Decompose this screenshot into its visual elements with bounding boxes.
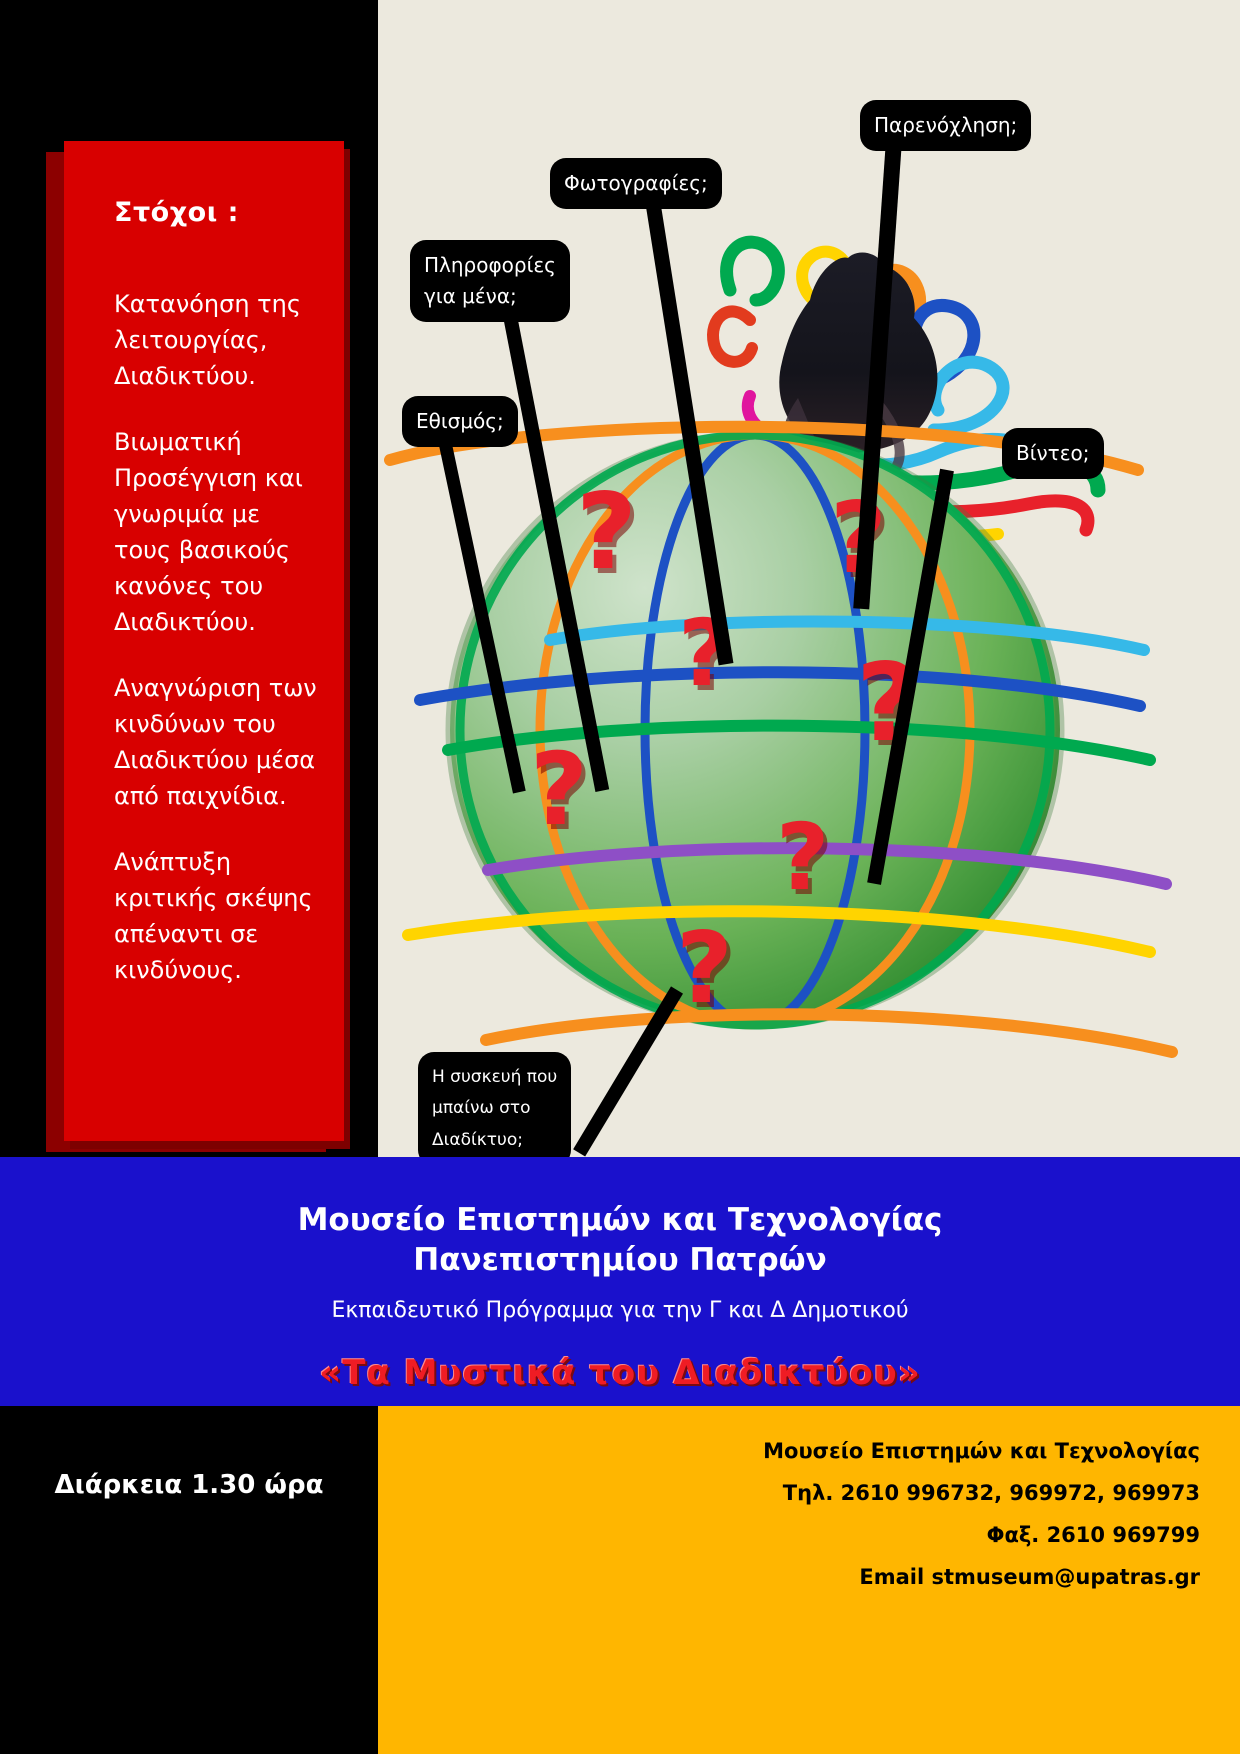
duration-text: Διάρκεια 1.30 ώρα xyxy=(0,1470,378,1500)
duration-panel xyxy=(0,1406,378,1754)
globe-bands xyxy=(378,0,1240,1157)
bubble-video[interactable]: Βίντεο; xyxy=(1002,428,1104,479)
bubble-personal-info[interactable]: Πληροφορίες για μένα; xyxy=(410,240,570,322)
question-mark: ? xyxy=(530,740,588,840)
contact-email[interactable]: Email stmuseum@upatras.gr xyxy=(378,1556,1200,1598)
contact-panel: Μουσείο Επιστημών και Τεχνολογίας Τηλ. 2… xyxy=(378,1406,1240,1754)
organisation-line-1: Μουσείο Επιστημών και Τεχνολογίας xyxy=(0,1201,1240,1241)
main-title: «Τα Μυστικά του Διαδικτύου» xyxy=(0,1353,1240,1393)
goal-item: Κατανόηση της λειτουργίας, Διαδικτύου. xyxy=(114,286,318,394)
bubble-addiction[interactable]: Εθισμός; xyxy=(402,396,518,447)
goal-item: Αναγνώριση των κινδύνων του Διαδικτύου μ… xyxy=(114,670,318,814)
bubble-photos[interactable]: Φωτογραφίες; xyxy=(550,158,722,209)
question-mark: ? xyxy=(776,812,829,904)
contact-fax: Φαξ. 2610 969799 xyxy=(378,1514,1200,1556)
program-line: Εκπαιδευτικό Πρόγραμμα για την Γ και Δ Δ… xyxy=(0,1298,1240,1323)
illustration-panel: ? ? ? ? ? ? ? Παρενόχληση; Φωτογραφίες; … xyxy=(378,0,1240,1157)
footer-blue-band: Μουσείο Επιστημών και Τεχνολογίας Πανεπι… xyxy=(0,1157,1240,1406)
goals-card: Στόχοι : Κατανόηση της λειτουργίας, Διαδ… xyxy=(64,141,344,1141)
poster: ? ? ? ? ? ? ? Παρενόχληση; Φωτογραφίες; … xyxy=(0,0,1240,1754)
goal-item: Ανάπτυξη κριτικής σκέψης απέναντι σε κιν… xyxy=(114,844,318,988)
contact-phone: Τηλ. 2610 996732, 969972, 969973 xyxy=(378,1472,1200,1514)
organisation-line-2: Πανεπιστημίου Πατρών xyxy=(0,1241,1240,1281)
contact-name: Μουσείο Επιστημών και Τεχνολογίας xyxy=(378,1430,1200,1472)
goal-item: Βιωματική Προσέγγιση και γνωριμία με του… xyxy=(114,424,318,640)
question-mark: ? xyxy=(676,920,733,1018)
bubble-harassment[interactable]: Παρενόχληση; xyxy=(860,100,1031,151)
goals-title: Στόχοι : xyxy=(114,197,318,228)
bubble-device[interactable]: Η συσκευή που μπαίνω στο Διαδίκτυο; xyxy=(418,1052,571,1157)
question-mark: ? xyxy=(576,480,637,585)
